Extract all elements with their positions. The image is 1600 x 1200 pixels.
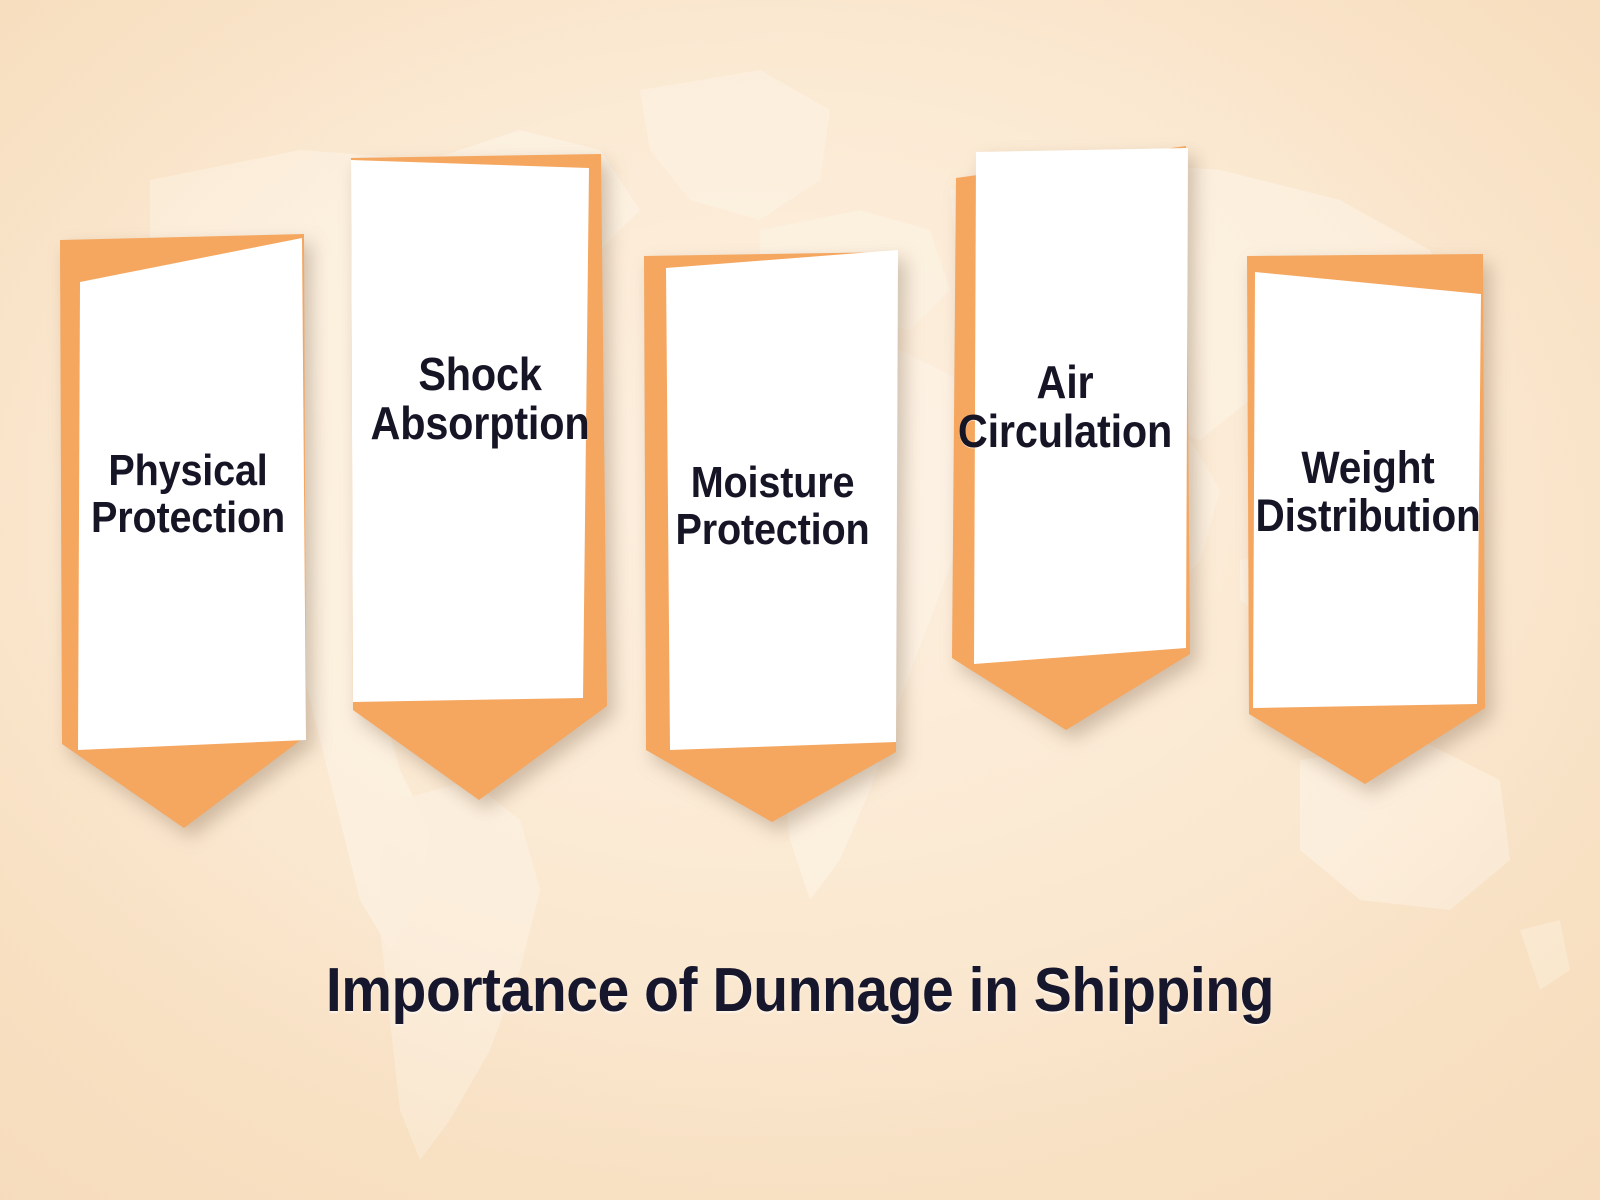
ribbon-panel-4 (974, 148, 1188, 664)
ribbon-panel-5 (1253, 272, 1481, 708)
banner-shape-2 (345, 150, 615, 810)
banner-shock-absorption[interactable]: Shock Absorption (345, 150, 615, 810)
banner-physical-protection[interactable]: Physical Protection (58, 232, 318, 832)
banner-shape-3 (640, 250, 905, 830)
banner-shape-4 (930, 140, 1200, 740)
ribbon-panel-3 (666, 250, 898, 750)
banner-shape-5 (1243, 252, 1493, 792)
infographic-canvas: Physical Protection Shock Absorption Moi… (0, 0, 1600, 1200)
ribbon-panel-1 (78, 238, 306, 750)
ribbon-panel-2 (351, 160, 589, 702)
banner-shape-1 (58, 232, 318, 832)
page-title: Importance of Dunnage in Shipping (64, 955, 1536, 1026)
banner-weight-distribution[interactable]: Weight Distribution (1243, 252, 1493, 792)
banner-air-circulation[interactable]: Air Circulation (930, 140, 1200, 740)
banner-moisture-protection[interactable]: Moisture Protection (640, 250, 905, 830)
